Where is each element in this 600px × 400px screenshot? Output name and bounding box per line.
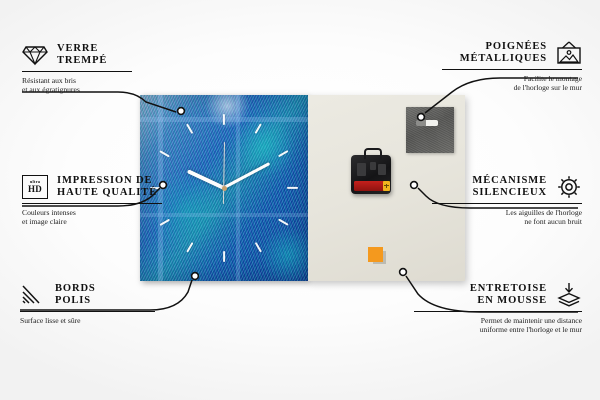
foam-spacer-icon: [556, 282, 582, 308]
hd-label: HD: [28, 185, 42, 194]
feature-title: POIGNÉESMÉTALLIQUES: [460, 41, 547, 66]
feature-mecanisme-silencieux: MÉCANISMESILENCIEUX Les aiguilles de l'h…: [432, 174, 582, 227]
hour-mark: [278, 150, 289, 157]
feature-bords-polis: BORDSPOLIS Surface lisse et sûre: [20, 282, 155, 325]
divider: [442, 69, 582, 70]
clock-mechanism: [351, 155, 391, 194]
hour-mark: [186, 123, 193, 134]
feature-subtitle: Permet de maintenir une distanceuniforme…: [414, 316, 582, 335]
center-pin: [222, 186, 227, 191]
divider: [22, 71, 132, 72]
gear-icon: [556, 174, 582, 200]
metal-hanger-plate: [406, 107, 454, 153]
hour-mark: [159, 150, 170, 157]
battery-plus-terminal: [383, 181, 390, 191]
minute-hand: [223, 162, 271, 189]
feature-subtitle: Les aiguilles de l'horlogene font aucun …: [432, 208, 582, 227]
ultra-hd-box: ultra HD: [22, 175, 48, 199]
feature-header: MÉCANISMESILENCIEUX: [432, 174, 582, 200]
mechanism-detail: [370, 162, 376, 170]
feature-title: BORDSPOLIS: [55, 283, 96, 308]
second-hand: [223, 142, 225, 204]
hour-mark: [255, 242, 262, 253]
divider: [432, 203, 582, 204]
hour-mark: [278, 219, 289, 226]
feature-subtitle: Surface lisse et sûre: [20, 316, 155, 326]
ultra-hd-icon: ultra HD: [22, 174, 48, 200]
feature-verre-trempe: VERRETREMPÉ Résistant aux briset aux égr…: [22, 42, 132, 95]
feature-header: POIGNÉESMÉTALLIQUES: [442, 40, 582, 66]
feature-poignees-metalliques: POIGNÉESMÉTALLIQUES Facilite le montaged…: [442, 40, 582, 93]
feature-header: BORDSPOLIS: [20, 282, 155, 308]
mechanism-hook: [364, 148, 382, 159]
hour-mark: [255, 123, 262, 134]
divider: [22, 203, 162, 204]
hour-hand: [187, 169, 225, 190]
mechanism-detail: [357, 163, 366, 176]
feature-header: ultra HD IMPRESSION DEHAUTE QUALITÉ: [22, 174, 162, 200]
clock-dial: [140, 95, 308, 281]
feature-impression-haute-qualite: ultra HD IMPRESSION DEHAUTE QUALITÉ Coul…: [22, 174, 162, 227]
feature-title: IMPRESSION DEHAUTE QUALITÉ: [57, 175, 157, 200]
feature-title: VERRETREMPÉ: [57, 43, 107, 68]
feature-subtitle: Facilite le montagede l'horloge sur le m…: [442, 74, 582, 93]
feature-header: VERRETREMPÉ: [22, 42, 132, 68]
hour-mark: [223, 251, 225, 262]
divider: [414, 311, 582, 312]
diamond-icon: [22, 42, 48, 68]
clock-front-panel: [140, 95, 308, 281]
feature-entretoise-en-mousse: ENTRETOISEEN MOUSSE Permet de maintenir …: [414, 282, 582, 335]
hour-mark: [186, 242, 193, 253]
infographic-canvas: VERRETREMPÉ Résistant aux briset aux égr…: [0, 0, 600, 400]
picture-hanger-icon: [556, 40, 582, 66]
feature-header: ENTRETOISEEN MOUSSE: [414, 282, 582, 308]
feature-title: MÉCANISMESILENCIEUX: [472, 175, 547, 200]
feature-title: ENTRETOISEEN MOUSSE: [470, 283, 547, 308]
feature-subtitle: Résistant aux briset aux égratignures: [22, 76, 132, 95]
feature-subtitle: Couleurs intenseset image claire: [22, 208, 162, 227]
divider: [20, 311, 155, 312]
hanger-slot: [416, 120, 438, 126]
mechanism-detail: [378, 164, 386, 175]
product-image: [140, 95, 465, 281]
foam-spacer: [368, 247, 383, 262]
hour-mark: [287, 187, 298, 189]
polished-edges-icon: [20, 282, 46, 308]
hour-mark: [223, 114, 225, 125]
